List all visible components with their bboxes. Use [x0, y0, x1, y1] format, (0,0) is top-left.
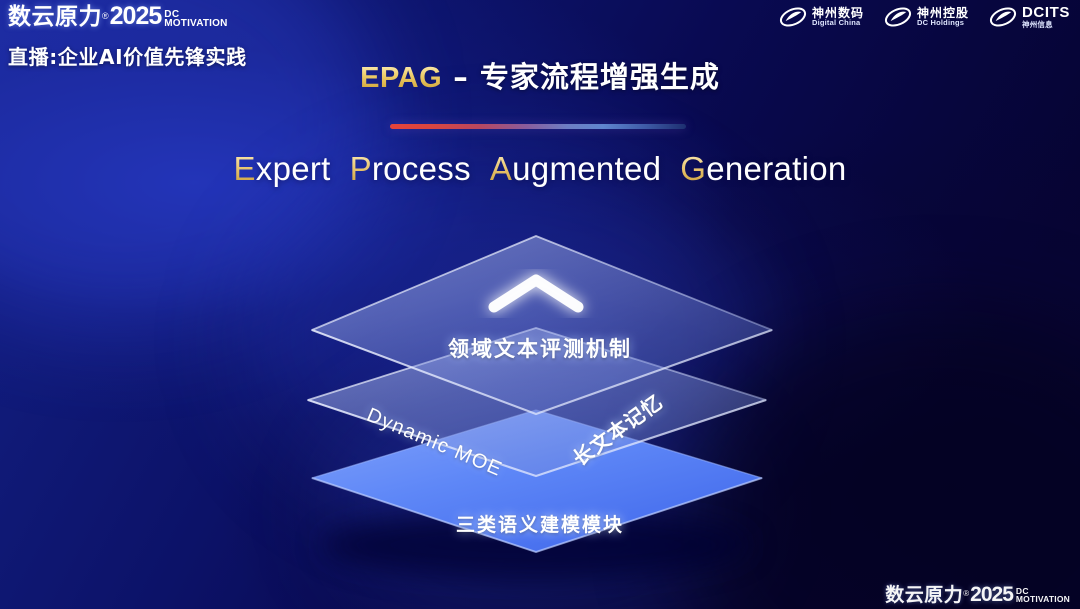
- swoosh-icon: [989, 5, 1017, 29]
- swoosh-icon: [884, 5, 912, 29]
- watermark-year: 2025: [970, 584, 1013, 605]
- title-acronym: EPAG: [360, 62, 442, 94]
- subtitle-rest-process: rocess: [372, 150, 471, 187]
- header-left: 数云原力 ® 2025 DC MOTIVATION 直播:企业AI价值先锋实践: [8, 4, 247, 70]
- subtitle-word-process: Process: [350, 150, 471, 187]
- brand-logo: 数云原力 ® 2025 DC MOTIVATION: [8, 4, 247, 29]
- partner-name-cn: 神州信息: [1022, 21, 1070, 29]
- subtitle-word-augmented: Augmented: [490, 150, 662, 187]
- subtitle-rest-generation: eneration: [706, 150, 846, 187]
- partner-name-en: Digital China: [812, 19, 864, 27]
- subtitle-space-3: [671, 150, 680, 187]
- partner-text-digital-china: 神州数码 Digital China: [812, 7, 864, 27]
- brand-name-cn: 数云原力: [8, 6, 102, 29]
- watermark-registered-mark: ®: [963, 590, 969, 598]
- watermark-motivation-text: MOTIVATION: [1016, 596, 1070, 604]
- title-chinese: 专家流程增强生成: [480, 60, 720, 94]
- diagram-layer-top: [312, 236, 772, 414]
- subtitle-rest-augmented: ugmented: [512, 150, 661, 187]
- watermark-dc-motivation: DC MOTIVATION: [1016, 588, 1070, 604]
- title-divider: [390, 124, 686, 129]
- subtitle-rest-expert: xpert: [256, 150, 331, 187]
- layer-label-bottom: 三类语义建模模块: [0, 510, 1080, 537]
- brand-motivation-text: MOTIVATION: [164, 19, 227, 28]
- layer-label-dynamic-moe: Dynamic MOE: [363, 404, 506, 482]
- partner-logo-dc-holdings: 神州控股 DC Holdings: [884, 5, 969, 29]
- subtitle-word-generation: Generation: [680, 150, 846, 187]
- partner-logo-group: 神州数码 Digital China 神州控股 DC Holdings DCIT…: [779, 5, 1070, 29]
- partner-logo-dcits: DCITS 神州信息: [989, 5, 1070, 29]
- brand-year: 2025: [110, 4, 162, 29]
- slide-canvas: 数云原力 ® 2025 DC MOTIVATION 直播:企业AI价值先锋实践 …: [0, 0, 1080, 609]
- subtitle-word-expert: Expert: [233, 150, 330, 187]
- subtitle-cap-g: G: [680, 150, 706, 187]
- swoosh-icon: [779, 5, 807, 29]
- live-broadcast-label: 直播:企业AI价值先锋实践: [8, 41, 247, 70]
- partner-name-en: DC Holdings: [917, 19, 969, 27]
- brand-registered-mark: ®: [102, 12, 109, 21]
- watermark-name-cn: 数云原力: [885, 586, 963, 605]
- layer-label-top: 领域文本评测机制: [0, 333, 1080, 363]
- layer-label-long-text-memory: 长文本记忆: [566, 386, 668, 471]
- chevron-up-icon: [494, 280, 578, 307]
- partner-name-en-primary: DCITS: [1022, 5, 1070, 21]
- footer-brand-watermark: 数云原力 ® 2025 DC MOTIVATION: [885, 584, 1070, 605]
- partner-logo-digital-china: 神州数码 Digital China: [779, 5, 864, 29]
- subtitle-cap-e: E: [233, 150, 255, 187]
- subtitle-cap-a: A: [490, 150, 512, 187]
- partner-text-dc-holdings: 神州控股 DC Holdings: [917, 7, 969, 27]
- brand-dc-motivation: DC MOTIVATION: [164, 10, 227, 28]
- partner-text-dcits: DCITS 神州信息: [1022, 5, 1070, 29]
- title-separator: –: [442, 60, 480, 94]
- slide-subtitle: Expert Process Augmented Generation: [0, 150, 1080, 188]
- subtitle-space-2: [480, 150, 489, 187]
- subtitle-space-1: [340, 150, 349, 187]
- subtitle-cap-p: P: [350, 150, 372, 187]
